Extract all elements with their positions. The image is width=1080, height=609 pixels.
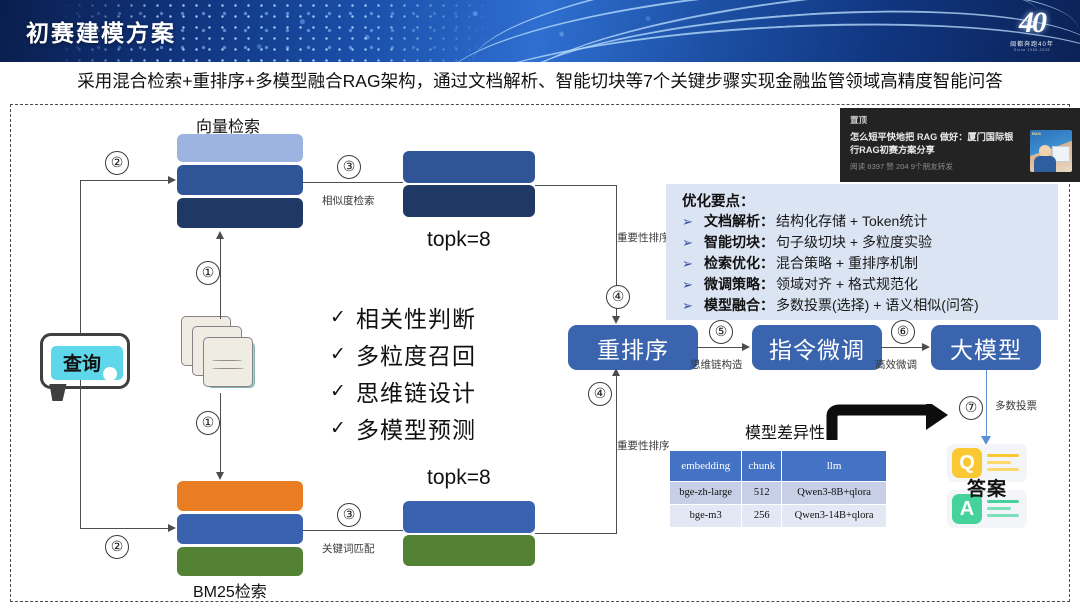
title-banner: 初赛建模方案 40 闽都奔跑40年 Since 1985-2025 [0, 0, 1080, 62]
bullet-arrow-icon: ➢ [682, 298, 704, 314]
bullet-arrow-icon: ➢ [682, 235, 704, 251]
answer-icon-group: Q A 答案 [947, 444, 1027, 530]
stage-large-model-label: 大模型 [950, 331, 1022, 365]
check-icon: ✓ [330, 343, 356, 366]
edge-topk-top-right [535, 185, 617, 186]
optimization-value: 混合策略 + 重排序机制 [776, 253, 918, 273]
edge-vector-to-topk [303, 182, 403, 183]
step-3-top: ③ [337, 155, 361, 179]
step-1-top: ① [196, 261, 220, 285]
arrow-tuning-to-model [922, 343, 930, 351]
edge-topk-bottom-right [535, 533, 617, 534]
optimization-item-2: ➢ 智能切块： 句子级切块 + 多粒度实验 [682, 232, 932, 252]
documents-icon [181, 316, 259, 394]
edge-topk-bottom-up [616, 375, 617, 533]
edge-query-down [80, 380, 81, 529]
optimization-item-4: ➢ 微调策略： 领域对齐 + 格式规范化 [682, 274, 918, 294]
step-7: ⑦ [959, 396, 983, 420]
stage-large-model[interactable]: 大模型 [931, 325, 1041, 370]
logo-subtitle-2: Since 1985-2025 [990, 48, 1074, 52]
optimization-value: 结构化存储 + Token统计 [776, 211, 927, 231]
q-line-2 [987, 461, 1011, 464]
bm25-bar-blue [177, 514, 303, 544]
edge-label-keyword: 关键词匹配 [322, 541, 375, 556]
edge-query-to-bm25 [80, 528, 170, 529]
subtitle-text: 采用混合检索+重排序+多模型融合RAG架构，通过文档解析、智能切块等7个关键步骤… [0, 62, 1080, 98]
bullet-arrow-icon: ➢ [682, 256, 704, 272]
table-header-chunk: chunk [742, 451, 782, 482]
arrow-docs-to-bm25 [216, 472, 224, 480]
arrow-docs-to-vector [216, 231, 224, 239]
table-cell-llm: Qwen3-8B+qlora [782, 482, 887, 505]
logo-subtitle: 闽都奔跑40年 [990, 39, 1074, 48]
edge-rerank-to-tuning [698, 347, 744, 348]
vector-bar-mid [177, 165, 303, 195]
document-squiggle-1 [212, 360, 242, 361]
optimization-key: 智能切块： [704, 232, 774, 252]
checklist-label: 相关性判断 [356, 300, 476, 334]
step-5: ⑤ [709, 320, 733, 344]
step-4-top: ④ [606, 285, 630, 309]
capability-checklist: ✓ 相关性判断 ✓ 多粒度召回 ✓ 思维链设计 ✓ 多模型预测 [330, 300, 476, 448]
table-cell-embedding: bge-m3 [670, 505, 742, 528]
wechat-article-card[interactable]: 置顶 怎么短平快地把 RAG 做好：厦门国际银行RAG初赛方案分享 阅读 839… [840, 108, 1080, 182]
table-cell-chunk: 256 [742, 505, 782, 528]
a-line-2 [987, 507, 1011, 510]
list-item: ✓ 多模型预测 [330, 411, 476, 445]
stage-instruction-tuning[interactable]: 指令微调 [752, 325, 882, 370]
topk-bottom-bar-2 [403, 535, 535, 566]
model-difference-arrow-icon [826, 404, 948, 442]
document-squiggle-2 [212, 368, 244, 369]
query-bubble[interactable]: 查询 [40, 333, 130, 389]
arrow-to-bm25 [168, 524, 176, 532]
optimization-key: 检索优化： [704, 253, 774, 273]
optimization-panel: 优化要点： ➢ 文档解析： 结构化存储 + Token统计 ➢ 智能切块： 句子… [666, 184, 1058, 320]
list-item: ✓ 相关性判断 [330, 300, 476, 334]
step-6: ⑥ [891, 320, 915, 344]
checklist-label: 多模型预测 [356, 411, 476, 445]
stage-instruction-tuning-label: 指令微调 [769, 331, 865, 365]
table-caption: 模型差异性 [745, 419, 825, 443]
optimization-item-5: ➢ 模型融合： 多数投票(选择) + 语义相似(问答) [682, 295, 979, 315]
edge-bm25-to-topk [303, 530, 403, 531]
thumbnail-caption: RAG [1032, 131, 1041, 136]
checklist-label: 多粒度召回 [356, 337, 476, 371]
step-4-bottom: ④ [588, 382, 612, 406]
edge-docs-to-vector [220, 239, 221, 319]
topk-top-label: topk=8 [427, 228, 491, 252]
q-line-1 [987, 454, 1019, 457]
edge-label-similarity: 相似度检索 [322, 193, 375, 208]
bm25-bar-orange [177, 481, 303, 511]
table-row: bge-zh-large 512 Qwen3-8B+qlora [670, 482, 887, 505]
vector-bar-light [177, 134, 303, 162]
optimization-value: 领域对齐 + 格式规范化 [776, 274, 918, 294]
edge-label-cot: 思维链构造 [690, 357, 743, 372]
vector-bar-dark [177, 198, 303, 228]
arrow-to-vector [168, 176, 176, 184]
query-bubble-tail [50, 384, 70, 401]
edge-model-to-answer [986, 370, 987, 438]
answer-label: 答案 [949, 474, 1025, 501]
edge-label-importance-top: 重要性排序 [617, 230, 670, 245]
list-item: ✓ 多粒度召回 [330, 337, 476, 371]
bullet-arrow-icon: ➢ [682, 214, 704, 230]
topk-bottom-bar-1 [403, 501, 535, 533]
step-1-bottom: ① [196, 411, 220, 435]
thumbnail-body [1034, 156, 1056, 172]
logo-mark: 40 [990, 8, 1074, 38]
table-header-row: embedding chunk llm [670, 451, 887, 482]
topk-top-bar-1 [403, 151, 535, 183]
optimization-value: 多数投票(选择) + 语义相似(问答) [776, 295, 979, 315]
topk-bottom-label: topk=8 [427, 466, 491, 490]
edge-tuning-to-model [882, 347, 924, 348]
stage-rerank[interactable]: 重排序 [568, 325, 698, 370]
check-icon: ✓ [330, 380, 356, 403]
page-title: 初赛建模方案 [26, 14, 176, 48]
table-cell-chunk: 512 [742, 482, 782, 505]
step-3-bottom: ③ [337, 503, 361, 527]
edge-query-to-vector [80, 180, 170, 181]
q-line-3 [987, 468, 1019, 471]
check-icon: ✓ [330, 417, 356, 440]
a-line-3 [987, 514, 1019, 517]
optimization-item-1: ➢ 文档解析： 结构化存储 + Token统计 [682, 211, 927, 231]
table-cell-llm: Qwen3-14B+qlora [782, 505, 887, 528]
anniversary-logo: 40 闽都奔跑40年 Since 1985-2025 [990, 8, 1074, 58]
table-header-embedding: embedding [670, 451, 742, 482]
bullet-arrow-icon: ➢ [682, 277, 704, 293]
check-icon: ✓ [330, 306, 356, 329]
bm25-label: BM25检索 [193, 578, 267, 602]
optimization-value: 句子级切块 + 多粒度实验 [776, 232, 932, 252]
document-sheet-front [203, 337, 253, 387]
edge-label-vote: 多数投票 [995, 398, 1037, 413]
query-label: 查询 [52, 349, 112, 376]
table-cell-embedding: bge-zh-large [670, 482, 742, 505]
optimization-key: 模型融合： [704, 295, 774, 315]
model-difference-table: embedding chunk llm bge-zh-large 512 Qwe… [669, 450, 887, 528]
edge-docs-to-bm25 [220, 393, 221, 473]
checklist-label: 思维链设计 [356, 374, 476, 408]
bm25-bar-green [177, 547, 303, 576]
arrow-rerank-to-tuning [742, 343, 750, 351]
edge-label-finetune: 高效微调 [875, 357, 917, 372]
article-thumbnail: RAG [1030, 130, 1072, 172]
edge-query-up [80, 180, 81, 335]
table-header-llm: llm [782, 451, 887, 482]
article-title[interactable]: 怎么短平快地把 RAG 做好：厦门国际银行RAG初赛方案分享 [850, 131, 1018, 157]
step-2-top: ② [105, 151, 129, 175]
table-row: bge-m3 256 Qwen3-14B+qlora [670, 505, 887, 528]
list-item: ✓ 思维链设计 [330, 374, 476, 408]
optimization-key: 文档解析： [704, 211, 774, 231]
stage-rerank-label: 重排序 [597, 331, 669, 365]
optimization-item-3: ➢ 检索优化： 混合策略 + 重排序机制 [682, 253, 918, 273]
arrow-into-rerank-top [612, 316, 620, 324]
optimization-key: 微调策略： [704, 274, 774, 294]
optimization-title: 优化要点： [682, 190, 755, 211]
article-stats: 阅读 8397 赞 204 9个朋友转发 [850, 161, 953, 172]
step-2-bottom: ② [105, 535, 129, 559]
topk-top-bar-2 [403, 185, 535, 217]
edge-label-importance-bottom: 重要性排序 [617, 438, 670, 453]
slide-root: 初赛建模方案 40 闽都奔跑40年 Since 1985-2025 采用混合检索… [0, 0, 1080, 609]
pinned-badge: 置顶 [850, 114, 867, 126]
